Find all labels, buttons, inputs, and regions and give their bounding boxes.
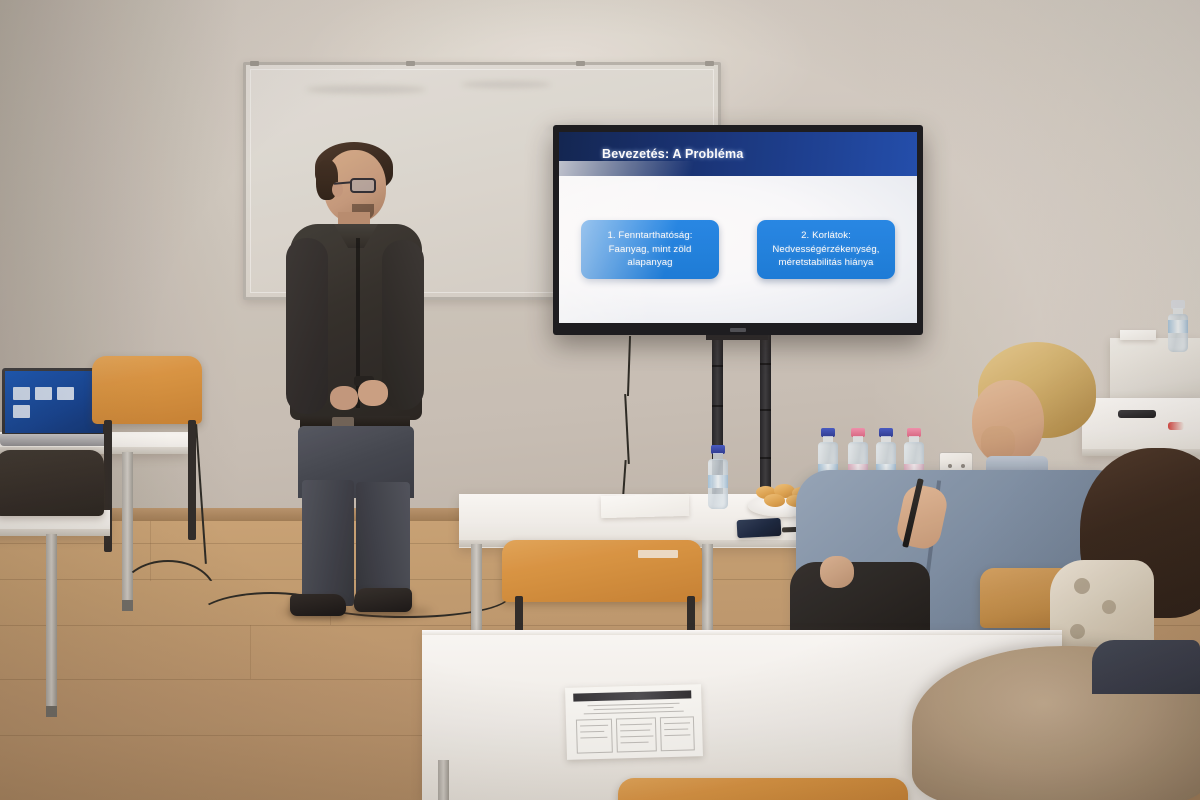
foreground-table-leg: [438, 760, 449, 800]
left-front-table-leg: [46, 534, 57, 712]
chair-left-back-leg-b: [188, 420, 196, 540]
presenter-hand-right: [358, 380, 388, 406]
handout-header-bar: [573, 690, 691, 701]
presenter-hand-left: [330, 386, 358, 410]
chair-left-front[interactable]: [0, 450, 104, 516]
chair-inventory-label: [638, 550, 678, 558]
slide-concept-box-1: 1. Fenntarthatóság: Faanyag, mint zöld a…: [581, 220, 719, 279]
television-display[interactable]: Bevezetés: A Probléma 1. Fenntarthatóság…: [553, 125, 923, 335]
attendee1-hand-lower: [820, 556, 854, 588]
presenter-shoe-left: [290, 594, 346, 616]
attendee3-shoulder: [1092, 640, 1200, 694]
presentation-slide: Bevezetés: A Probléma 1. Fenntarthatóság…: [559, 132, 917, 323]
presenter-arm-left: [286, 238, 328, 414]
eyeglasses-icon: [350, 178, 376, 193]
slide-header-band: Bevezetés: A Probléma: [559, 132, 917, 176]
attendee1-jaw: [981, 426, 1015, 460]
chair-left-back[interactable]: [92, 356, 202, 424]
paper-sheet-left[interactable]: [601, 494, 690, 518]
slide-concept-box-2: 2. Korlátok: Nedvességérzékenység, méret…: [757, 220, 895, 279]
slide-title: Bevezetés: A Probléma: [602, 147, 744, 161]
laptop-screen: [5, 371, 103, 433]
slide-body: 1. Fenntarthatóság: Faanyag, mint zöld a…: [559, 176, 917, 323]
left-front-table-foot: [46, 706, 57, 717]
chair-center-front[interactable]: [502, 540, 702, 602]
left-back-table-foot: [122, 600, 133, 611]
printed-handout[interactable]: [565, 684, 703, 760]
chair-foreground-bottom[interactable]: [618, 778, 908, 800]
small-red-object[interactable]: [1168, 422, 1184, 430]
main-table-leg-left: [471, 544, 482, 636]
presenter-shoe-right: [354, 588, 412, 612]
presenter-leg-left: [302, 480, 354, 606]
laptop-keyboard-base[interactable]: [0, 434, 112, 446]
presenter-arm-right: [382, 240, 424, 410]
laptop-lid: [2, 368, 106, 436]
presenter: [272, 142, 462, 632]
tv-screen: Bevezetés: A Probléma 1. Fenntarthatóság…: [559, 132, 917, 323]
attendee1-lap: [790, 562, 930, 634]
presentation-room-photo: Bevezetés: A Probléma 1. Fenntarthatóság…: [0, 0, 1200, 800]
